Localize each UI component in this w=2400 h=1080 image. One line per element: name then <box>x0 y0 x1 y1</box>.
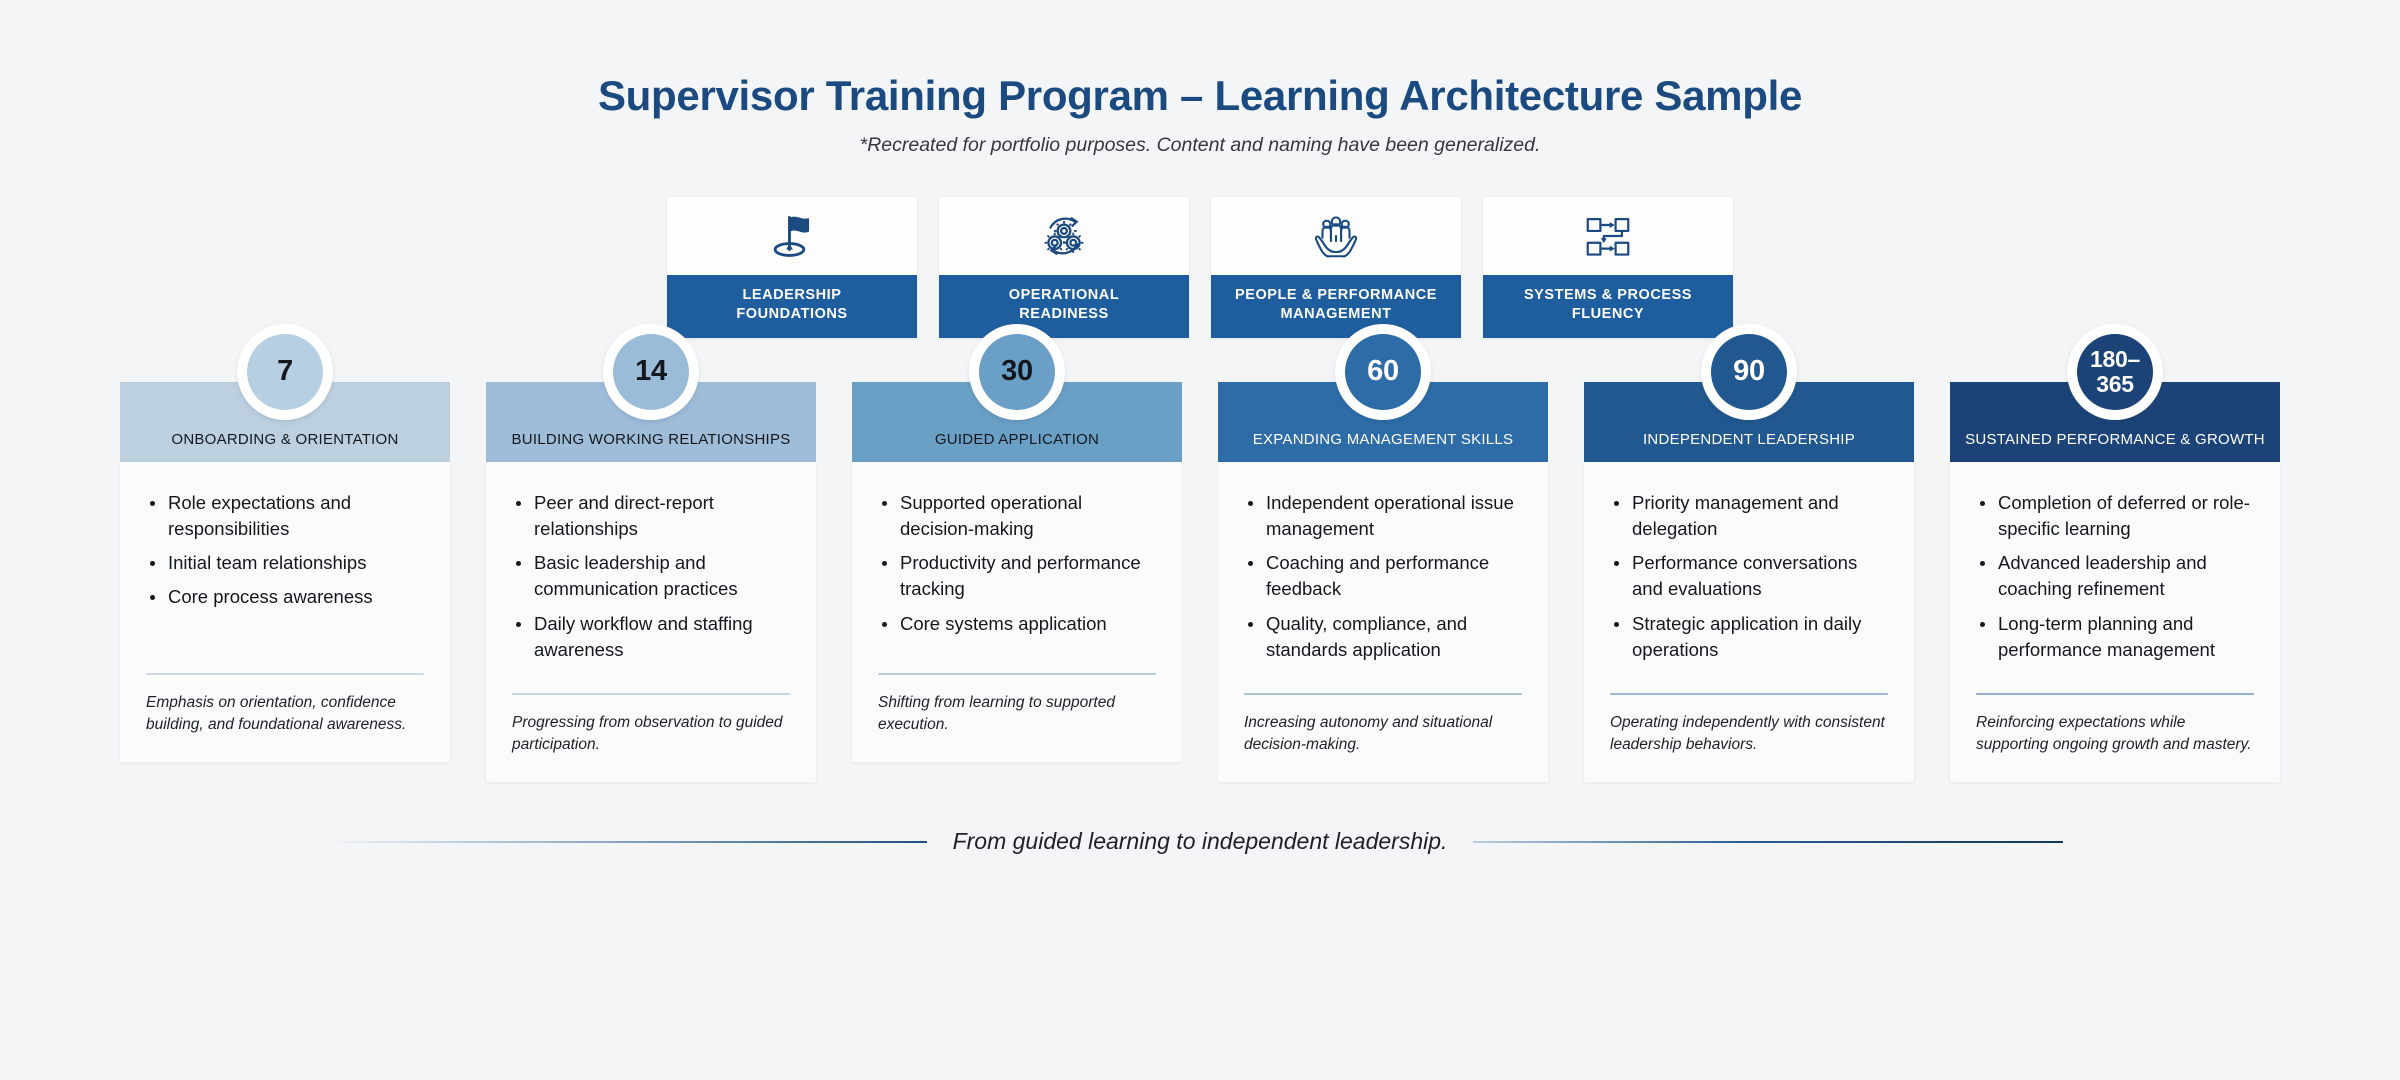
stage-divider <box>146 673 424 675</box>
stage-bullet: Priority management and delegation <box>1610 490 1888 543</box>
pillar-card-label: LEADERSHIP FOUNDATIONS <box>667 275 917 337</box>
stage-bullet: Initial team relationships <box>146 550 424 576</box>
stage-day-value: 90 <box>1711 334 1787 410</box>
stage-body: Role expectations and responsibilitiesIn… <box>120 462 450 762</box>
stage-note: Increasing autonomy and situational deci… <box>1244 712 1522 756</box>
pillar-label-line1: SYSTEMS & PROCESS <box>1524 286 1692 305</box>
pillar-card-label: PEOPLE & PERFORMANCE MANAGEMENT <box>1211 275 1461 337</box>
stage-body: Completion of deferred or role-specific … <box>1950 462 2280 783</box>
stage-body: Independent operational issue management… <box>1218 462 1548 783</box>
stage-day-badge: 7 <box>237 324 333 420</box>
pillar-card-label: SYSTEMS & PROCESS FLUENCY <box>1483 275 1733 337</box>
stage-column[interactable]: 60 EXPANDING MANAGEMENT SKILLS Independe… <box>1218 382 1548 783</box>
stage-day-value: 30 <box>979 334 1055 410</box>
stage-column[interactable]: 30 GUIDED APPLICATION Supported operatio… <box>852 382 1182 762</box>
stage-note: Shifting from learning to supported exec… <box>878 692 1156 736</box>
flag-on-green-icon <box>667 197 917 275</box>
stage-bullet: Strategic application in daily operation… <box>1610 611 1888 664</box>
stage-bullet-list: Role expectations and responsibilitiesIn… <box>146 490 424 619</box>
stage-divider <box>512 693 790 695</box>
stage-day-value: 60 <box>1345 334 1421 410</box>
stage-divider <box>1610 693 1888 695</box>
page-subtitle: *Recreated for portfolio purposes. Conte… <box>0 134 2400 157</box>
footer-rule-right <box>1473 841 2063 843</box>
pillar-card[interactable]: SYSTEMS & PROCESS FLUENCY <box>1483 197 1733 337</box>
process-flowchart-icon <box>1483 197 1733 275</box>
pillar-label-line2: MANAGEMENT <box>1235 305 1437 324</box>
stage-note: Progressing from observation to guided p… <box>512 712 790 756</box>
pillar-card[interactable]: PEOPLE & PERFORMANCE MANAGEMENT <box>1211 197 1461 337</box>
stage-bullet-list: Independent operational issue management… <box>1244 490 1522 672</box>
stage-day-value: 7 <box>247 334 323 410</box>
stage-bullet: Core systems application <box>878 611 1156 637</box>
stage-divider <box>878 673 1156 675</box>
pillar-card[interactable]: LEADERSHIP FOUNDATIONS <box>667 197 917 337</box>
stage-bullet: Quality, compliance, and standards appli… <box>1244 611 1522 664</box>
stage-bullet: Supported operational decision-making <box>878 490 1156 543</box>
stage-bullet: Long-term planning and performance manag… <box>1976 611 2254 664</box>
pillar-card-label: OPERATIONAL READINESS <box>939 275 1189 337</box>
stage-day-value: 14 <box>613 334 689 410</box>
stage-bullet-list: Peer and direct-report relationshipsBasi… <box>512 490 790 672</box>
stage-divider <box>1244 693 1522 695</box>
stage-bullet: Role expectations and responsibilities <box>146 490 424 543</box>
stage-title-text: BUILDING WORKING RELATIONSHIPS <box>512 431 791 448</box>
stage-title-text: ONBOARDING & ORIENTATION <box>171 431 398 448</box>
stage-note: Operating independently with consistent … <box>1610 712 1888 756</box>
stage-column[interactable]: 180–365 SUSTAINED PERFORMANCE & GROWTH C… <box>1950 382 2280 783</box>
stage-column[interactable]: 14 BUILDING WORKING RELATIONSHIPS Peer a… <box>486 382 816 783</box>
stage-bullet: Coaching and performance feedback <box>1244 550 1522 603</box>
stage-column-row: 7 ONBOARDING & ORIENTATION Role expectat… <box>0 382 2400 783</box>
stage-bullet: Completion of deferred or role-specific … <box>1976 490 2254 543</box>
stage-day-value: 180–365 <box>2077 334 2153 410</box>
stage-column[interactable]: 90 INDEPENDENT LEADERSHIP Priority manag… <box>1584 382 1914 783</box>
stage-bullet: Basic leadership and communication pract… <box>512 550 790 603</box>
pillar-label-line2: FLUENCY <box>1524 305 1692 324</box>
stage-title-text: SUSTAINED PERFORMANCE & GROWTH <box>1965 431 2265 448</box>
stage-bullet: Peer and direct-report relationships <box>512 490 790 543</box>
people-in-hands-icon <box>1211 197 1461 275</box>
pillar-label-line1: PEOPLE & PERFORMANCE <box>1235 286 1437 305</box>
page-title: Supervisor Training Program – Learning A… <box>0 72 2400 120</box>
header: Supervisor Training Program – Learning A… <box>0 0 2400 157</box>
pillar-label-line1: LEADERSHIP <box>736 286 847 305</box>
stage-title-text: EXPANDING MANAGEMENT SKILLS <box>1253 431 1513 448</box>
gears-cycle-icon <box>939 197 1189 275</box>
pillar-label-line1: OPERATIONAL <box>1009 286 1120 305</box>
stage-bullet-list: Supported operational decision-makingPro… <box>878 490 1156 645</box>
stage-spacer <box>512 671 790 693</box>
stage-day-badge: 60 <box>1335 324 1431 420</box>
stage-body: Priority management and delegationPerfor… <box>1584 462 1914 783</box>
stage-body: Supported operational decision-makingPro… <box>852 462 1182 762</box>
stage-spacer <box>1976 671 2254 693</box>
stage-bullet: Independent operational issue management <box>1244 490 1522 543</box>
pillar-label-line2: FOUNDATIONS <box>736 305 847 324</box>
stage-column[interactable]: 7 ONBOARDING & ORIENTATION Role expectat… <box>120 382 450 762</box>
infographic-page: Supervisor Training Program – Learning A… <box>0 0 2400 1080</box>
stage-day-badge: 30 <box>969 324 1065 420</box>
stage-bullet: Daily workflow and staffing awareness <box>512 611 790 664</box>
stage-spacer <box>878 645 1156 673</box>
footer: From guided learning to independent lead… <box>0 828 2400 855</box>
stage-day-badge: 180–365 <box>2067 324 2163 420</box>
stage-bullet: Performance conversations and evaluation… <box>1610 550 1888 603</box>
pillar-label-line2: READINESS <box>1009 305 1120 324</box>
stage-bullet-list: Completion of deferred or role-specific … <box>1976 490 2254 672</box>
footer-tagline: From guided learning to independent lead… <box>953 828 1448 855</box>
stage-bullet: Productivity and performance tracking <box>878 550 1156 603</box>
stage-note: Emphasis on orientation, confidence buil… <box>146 692 424 736</box>
stage-bullet-list: Priority management and delegationPerfor… <box>1610 490 1888 672</box>
stage-bullet: Core process awareness <box>146 584 424 610</box>
stage-spacer <box>1610 671 1888 693</box>
stage-divider <box>1976 693 2254 695</box>
stage-bullet: Advanced leadership and coaching refinem… <box>1976 550 2254 603</box>
stage-day-badge: 14 <box>603 324 699 420</box>
pillar-card-row: LEADERSHIP FOUNDATIONS OPERATIONAL REA <box>0 197 2400 337</box>
pillar-card[interactable]: OPERATIONAL READINESS <box>939 197 1189 337</box>
footer-rule-left <box>337 841 927 843</box>
stage-title-text: INDEPENDENT LEADERSHIP <box>1643 431 1855 448</box>
stage-note: Reinforcing expectations while supportin… <box>1976 712 2254 756</box>
stage-day-badge: 90 <box>1701 324 1797 420</box>
stage-spacer <box>146 619 424 673</box>
stage-title-text: GUIDED APPLICATION <box>935 431 1099 448</box>
stage-spacer <box>1244 671 1522 693</box>
stage-body: Peer and direct-report relationshipsBasi… <box>486 462 816 783</box>
